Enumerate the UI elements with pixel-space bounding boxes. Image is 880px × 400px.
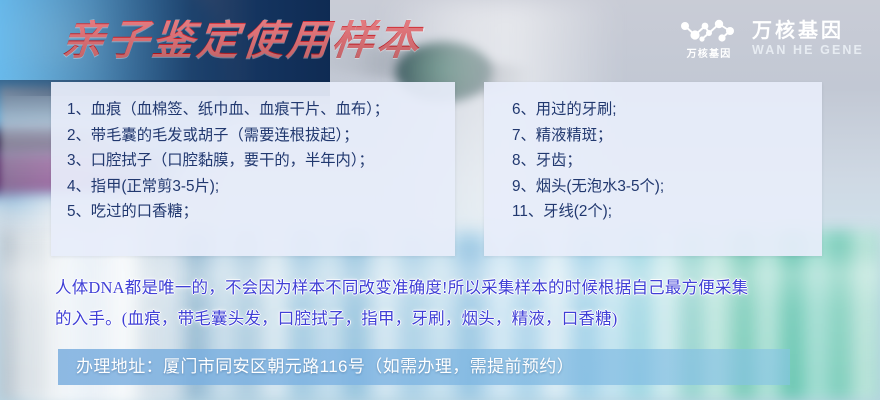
list-item: 5、吃过的口香糖； [67, 199, 455, 225]
list-item: 3、口腔拭子（口腔黏膜，要干的，半年内）； [67, 148, 455, 174]
accuracy-note-line-2: 的入手。(血痕，带毛囊头发，口腔拭子，指甲，牙刷，烟头，精液，口香糖) [55, 303, 855, 334]
brand-logo[interactable]: 万核基因 万核基因 WAN HE GENE [678, 18, 864, 60]
list-item: 1、血痕（血棉签、纸巾血、血痕干片、血布）； [67, 97, 455, 123]
list-item: 7、精液精斑； [512, 123, 822, 149]
poster-root: 亲子鉴定使用样本 [0, 0, 880, 400]
molecule-icon [678, 18, 740, 48]
accuracy-note: 人体DNA都是唯一的，不会因为样本不同改变准确度!所以采集样本的时候根据自己最方… [55, 272, 855, 334]
logo-wordmark: 万核基因 WAN HE GENE [752, 20, 864, 58]
logo-name-en: WAN HE GENE [752, 44, 864, 58]
list-item: 6、用过的牙刷; [512, 97, 822, 123]
list-item: 8、牙齿； [512, 148, 822, 174]
logo-name-cn: 万核基因 [752, 20, 844, 43]
list-item: 9、烟头(无泡水3-5个); [512, 174, 822, 200]
logo-mark: 万核基因 [678, 18, 740, 60]
list-item: 2、带毛囊的毛发或胡子（需要连根拔起）； [67, 123, 455, 149]
logo-mark-caption: 万核基因 [687, 50, 732, 60]
address-text: 办理地址：厦门市同安区朝元路116号（如需办理，需提前预约） [76, 352, 574, 382]
accuracy-note-line-1: 人体DNA都是唯一的，不会因为样本不同改变准确度!所以采集样本的时候根据自己最方… [55, 272, 855, 303]
sample-list-right: 6、用过的牙刷; 7、精液精斑； 8、牙齿； 9、烟头(无泡水3-5个); 11… [484, 82, 822, 225]
sample-list-panel-right: 6、用过的牙刷; 7、精液精斑； 8、牙齿； 9、烟头(无泡水3-5个); 11… [484, 82, 822, 256]
list-item: 11、牙线(2个); [512, 199, 822, 225]
sample-list-panel-left: 1、血痕（血棉签、纸巾血、血痕干片、血布）； 2、带毛囊的毛发或胡子（需要连根拔… [51, 82, 455, 256]
list-item: 4、指甲(正常剪3-5片); [67, 174, 455, 200]
page-title: 亲子鉴定使用样本 [60, 20, 424, 62]
sample-list-left: 1、血痕（血棉签、纸巾血、血痕干片、血布）； 2、带毛囊的毛发或胡子（需要连根拔… [51, 82, 455, 225]
